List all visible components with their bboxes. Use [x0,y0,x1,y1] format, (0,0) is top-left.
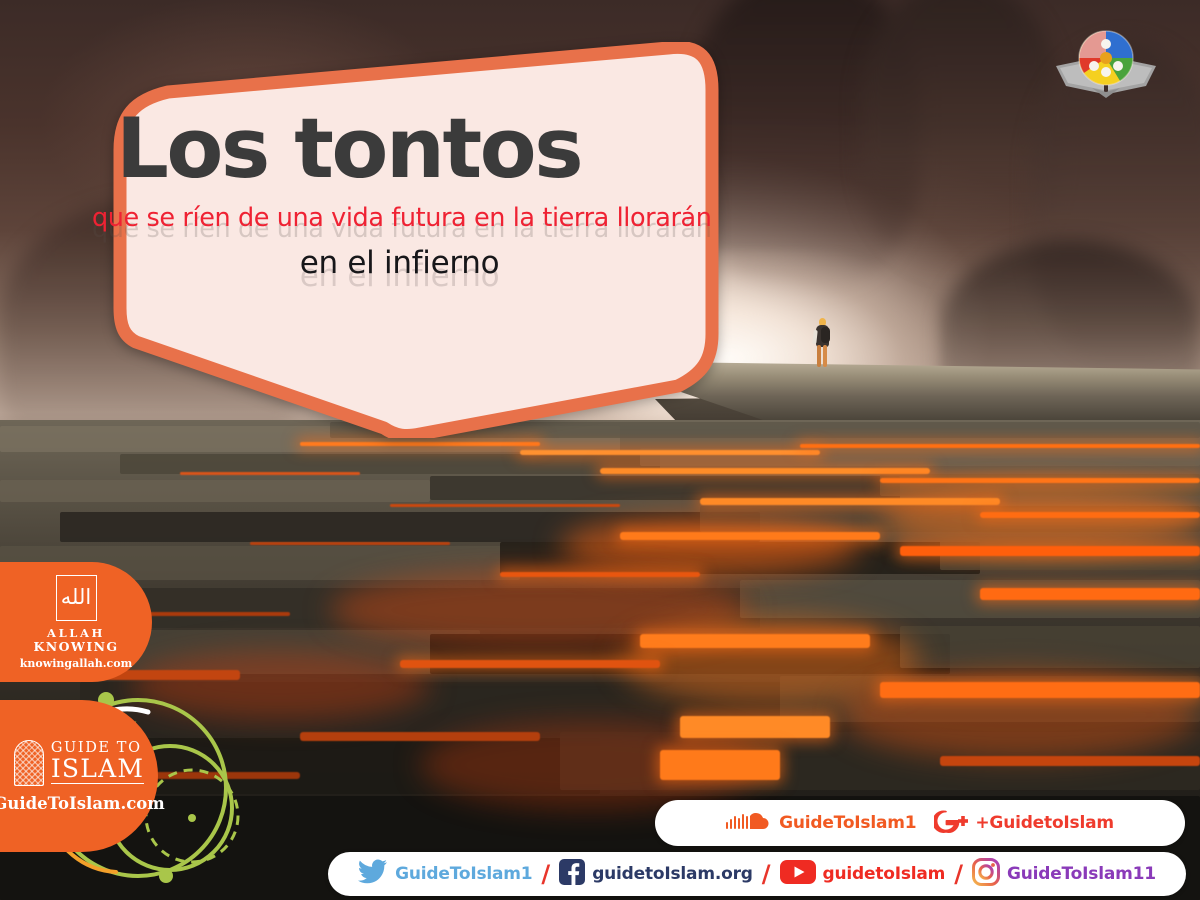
guide-to-islam-line2: ISLAM [51,756,144,781]
colorful-globe-icon [1079,31,1133,85]
separator: / [762,860,771,888]
google-plus-label[interactable]: +GuidetoIslam [975,813,1114,833]
instagram-label[interactable]: GuideToIslam11 [1007,864,1156,884]
facebook-icon[interactable] [559,859,585,890]
guide-to-islam-wordmark: GUIDE TO ISLAM [51,741,144,785]
youtube-label[interactable]: guidetoIslam [823,864,946,884]
youtube-icon[interactable] [780,859,816,890]
poster-canvas: Los tontos que se ríen de una vida futur… [0,0,1200,900]
social-bar-secondary: GuideToIslam1 / guidetoIslam.org / guide… [328,852,1186,896]
figure-leg [817,345,821,367]
guide-to-islam-book-globe-emblem [1052,26,1160,100]
guide-to-islam-lockup: GUIDE TO ISLAM [14,740,144,786]
social-item-soundcloud[interactable]: GuideToIslam1 [726,810,916,837]
soundcloud-label[interactable]: GuideToIslam1 [779,813,916,833]
knowing-allah-line2: KNOWING [34,639,119,654]
google-plus-icon[interactable] [934,809,968,838]
soundcloud-icon[interactable] [726,810,772,837]
allah-calligraphy-icon: الله [56,575,97,621]
social-item-facebook[interactable]: guidetoIslam.org [559,859,753,890]
figure-backpack [821,327,830,343]
separator: / [954,860,963,888]
guide-to-islam-badge[interactable]: GUIDE TO ISLAM GuideToIslam.com [0,700,158,852]
wordmark-rule [51,783,144,784]
figure-leg [823,345,827,367]
mihrab-arch-icon [14,740,44,786]
social-item-youtube[interactable]: guidetoIslam [780,859,946,890]
twitter-icon[interactable] [358,859,388,889]
social-bar-primary: GuideToIslam1 +GuidetoIslam [655,800,1185,846]
instagram-icon[interactable] [972,858,1000,891]
twitter-label[interactable]: GuideToIslam1 [395,864,532,884]
social-item-twitter[interactable]: GuideToIslam1 [358,859,532,889]
quote-bubble [72,42,720,438]
separator: / [541,860,550,888]
guide-to-islam-url[interactable]: GuideToIslam.com [0,794,165,813]
facebook-label[interactable]: guidetoIslam.org [592,864,753,884]
knowing-allah-line1: ALLAH [47,626,105,640]
social-item-google-plus[interactable]: +GuidetoIslam [934,809,1114,838]
social-item-instagram[interactable]: GuideToIslam11 [972,858,1156,891]
knowing-allah-url[interactable]: knowingallah.com [20,657,132,670]
knowing-allah-badge[interactable]: الله ALLAH KNOWING knowingallah.com [0,562,152,682]
lone-figure [812,318,832,370]
